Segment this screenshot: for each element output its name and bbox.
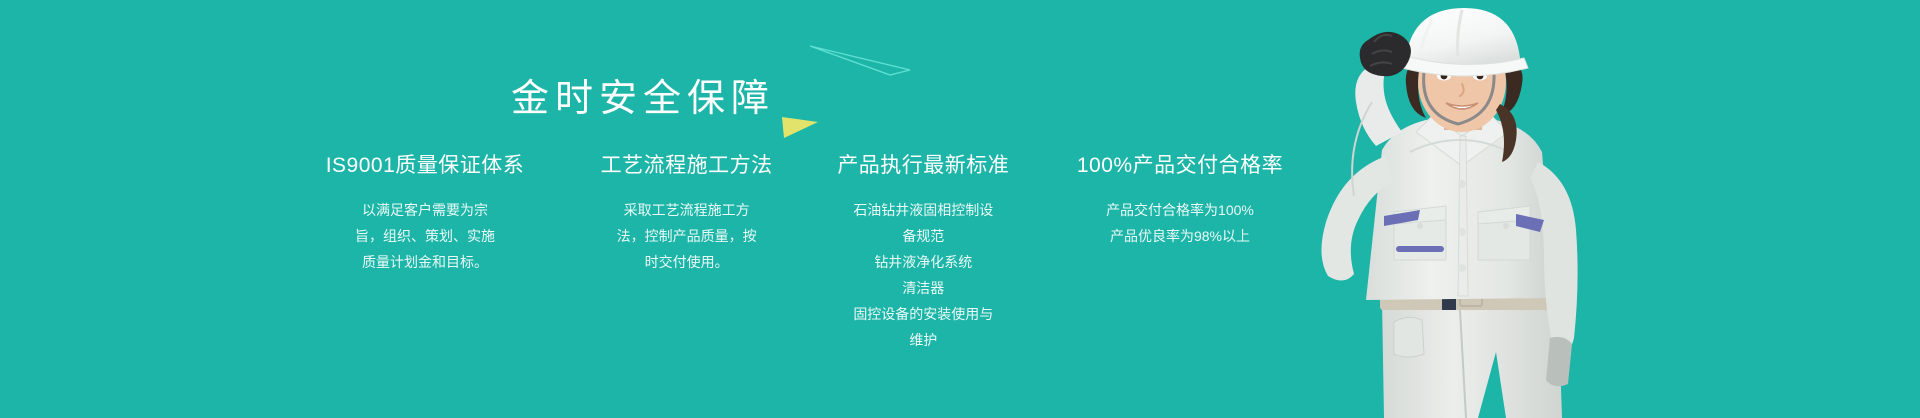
- feature-body-2: 采取工艺流程施工方 法，控制产品质量，按 时交付使用。: [602, 197, 772, 275]
- feature-heading-1: IS9001质量保证体系: [306, 152, 544, 179]
- feature-body-line: 备规范: [833, 223, 1013, 249]
- feature-body-line: 清洁器: [833, 275, 1013, 301]
- feature-heading-2: 工艺流程施工方法: [593, 152, 781, 179]
- feature-heading-3: 产品执行最新标准: [829, 152, 1017, 179]
- feature-body-line: 产品交付合格率为100%: [1070, 197, 1290, 223]
- feature-column-1: IS9001质量保证体系 以满足客户需要为宗 旨，组织、策划、实施 质量计划金和…: [300, 152, 550, 275]
- promo-banner: 金时安全保障 IS9001质量保证体系 以满足客户需要为宗 旨，组织、策划、实施…: [0, 0, 1920, 418]
- feature-column-2: 工艺流程施工方法 采取工艺流程施工方 法，控制产品质量，按 时交付使用。: [587, 152, 787, 275]
- feature-body-line: 质量计划金和目标。: [340, 249, 510, 275]
- feature-body-line: 石油钻井液固相控制设: [833, 197, 1013, 223]
- feature-columns: IS9001质量保证体系 以满足客户需要为宗 旨，组织、策划、实施 质量计划金和…: [300, 152, 1300, 353]
- feature-body-3: 石油钻井液固相控制设 备规范 钻井液净化系统 清洁器 固控设备的安装使用与 维护: [833, 197, 1013, 353]
- banner-title: 金时安全保障: [0, 77, 1280, 123]
- feature-column-4: 100%产品交付合格率 产品交付合格率为100% 产品优良率为98%以上: [1060, 152, 1300, 249]
- feature-column-3: 产品执行最新标准 石油钻井液固相控制设 备规范 钻井液净化系统 清洁器 固控设备…: [823, 152, 1023, 353]
- feature-body-line: 法，控制产品质量，按: [602, 223, 772, 249]
- feature-body-line: 固控设备的安装使用与: [833, 301, 1013, 327]
- feature-body-line: 维护: [833, 327, 1013, 353]
- feature-heading-4: 100%产品交付合格率: [1066, 152, 1294, 179]
- feature-body-4: 产品交付合格率为100% 产品优良率为98%以上: [1070, 197, 1290, 249]
- feature-body-line: 采取工艺流程施工方: [602, 197, 772, 223]
- feature-body-line: 钻井液净化系统: [833, 249, 1013, 275]
- feature-body-line: 产品优良率为98%以上: [1070, 223, 1290, 249]
- feature-body-line: 旨，组织、策划、实施: [340, 223, 510, 249]
- feature-body-line: 以满足客户需要为宗: [340, 197, 510, 223]
- worker-photo: [1310, 0, 1650, 418]
- feature-body-1: 以满足客户需要为宗 旨，组织、策划、实施 质量计划金和目标。: [340, 197, 510, 275]
- outline-triangle-decoration: [808, 42, 912, 76]
- feature-body-line: 时交付使用。: [602, 249, 772, 275]
